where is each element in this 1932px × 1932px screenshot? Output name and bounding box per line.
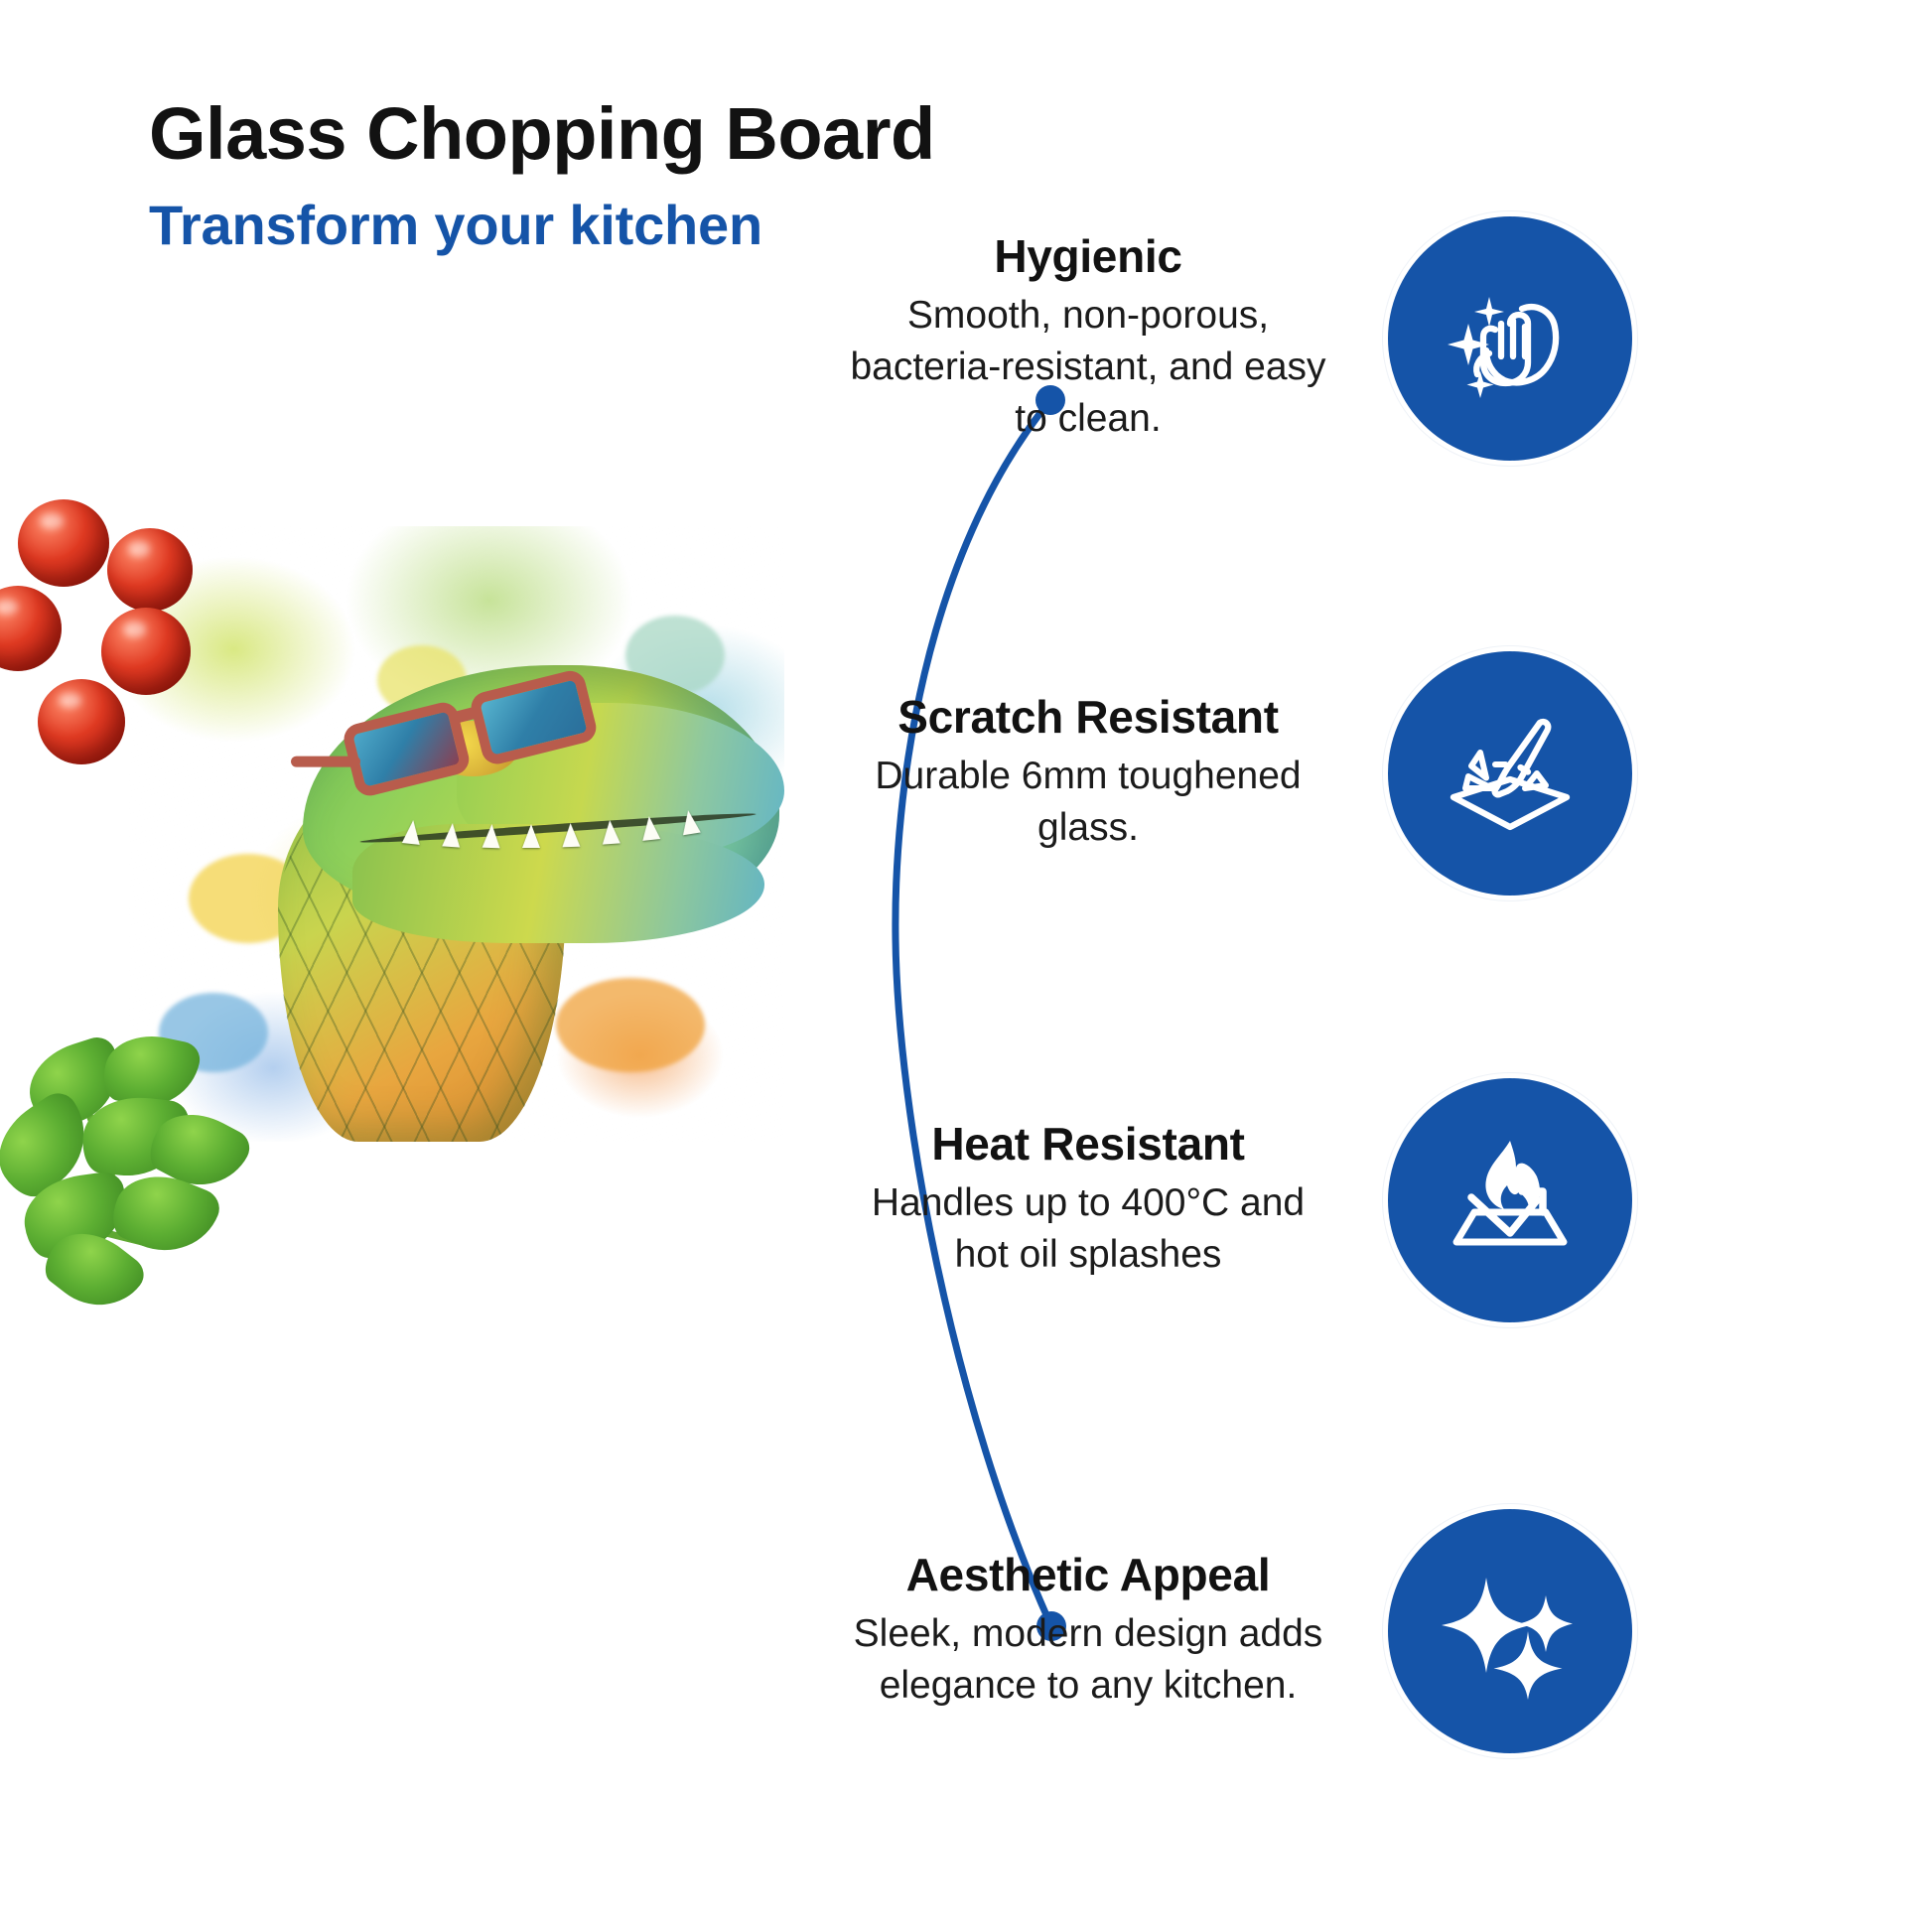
feature-title: Hygienic: [840, 231, 1336, 282]
sunglasses-right-lens: [468, 667, 599, 766]
feature-row-hygienic: Hygienic Smooth, non-porous, bacteria-re…: [840, 216, 1632, 461]
feature-description: Durable 6mm toughened glass.: [840, 751, 1336, 855]
feature-description: Smooth, non-porous, bacteria-resistant, …: [840, 290, 1336, 446]
parsley-garnish: [0, 1028, 286, 1306]
sunglasses-temple: [291, 757, 360, 767]
sparkles-icon: [1436, 1557, 1585, 1706]
feature-text-block: Aesthetic Appeal Sleek, modern design ad…: [840, 1550, 1336, 1712]
tomato: [101, 608, 191, 695]
feature-row-aesthetic-appeal: Aesthetic Appeal Sleek, modern design ad…: [840, 1509, 1632, 1753]
feature-title: Aesthetic Appeal: [840, 1550, 1336, 1600]
feature-icon-badge[interactable]: [1388, 651, 1632, 896]
feature-icon-badge[interactable]: [1388, 1509, 1632, 1753]
feature-row-scratch-resistant: Scratch Resistant Durable 6mm toughened …: [840, 651, 1632, 896]
feature-icon-badge[interactable]: [1388, 1078, 1632, 1322]
knife-impact-surface-icon: [1436, 699, 1585, 848]
feature-description: Handles up to 400°C and hot oil splashes: [840, 1177, 1336, 1282]
sunglasses-left-lens: [341, 699, 472, 798]
page-title: Glass Chopping Board: [149, 95, 1241, 173]
feature-description: Sleek, modern design adds elegance to an…: [840, 1608, 1336, 1713]
tomato: [38, 679, 125, 764]
feature-title: Scratch Resistant: [840, 692, 1336, 743]
tomato: [18, 499, 109, 587]
feature-title: Heat Resistant: [840, 1119, 1336, 1170]
feature-icon-badge[interactable]: [1388, 216, 1632, 461]
hand-wiping-sparkle-icon: [1436, 264, 1585, 413]
feature-text-block: Hygienic Smooth, non-porous, bacteria-re…: [840, 231, 1336, 445]
feature-text-block: Heat Resistant Handles up to 400°C and h…: [840, 1119, 1336, 1281]
tomato: [0, 586, 62, 671]
infographic-canvas: Glass Chopping Board Transform your kitc…: [0, 0, 1932, 1932]
feature-text-block: Scratch Resistant Durable 6mm toughened …: [840, 692, 1336, 854]
feature-row-heat-resistant: Heat Resistant Handles up to 400°C and h…: [840, 1078, 1632, 1322]
flame-deflect-surface-icon: [1436, 1126, 1585, 1275]
tomato: [107, 528, 193, 612]
